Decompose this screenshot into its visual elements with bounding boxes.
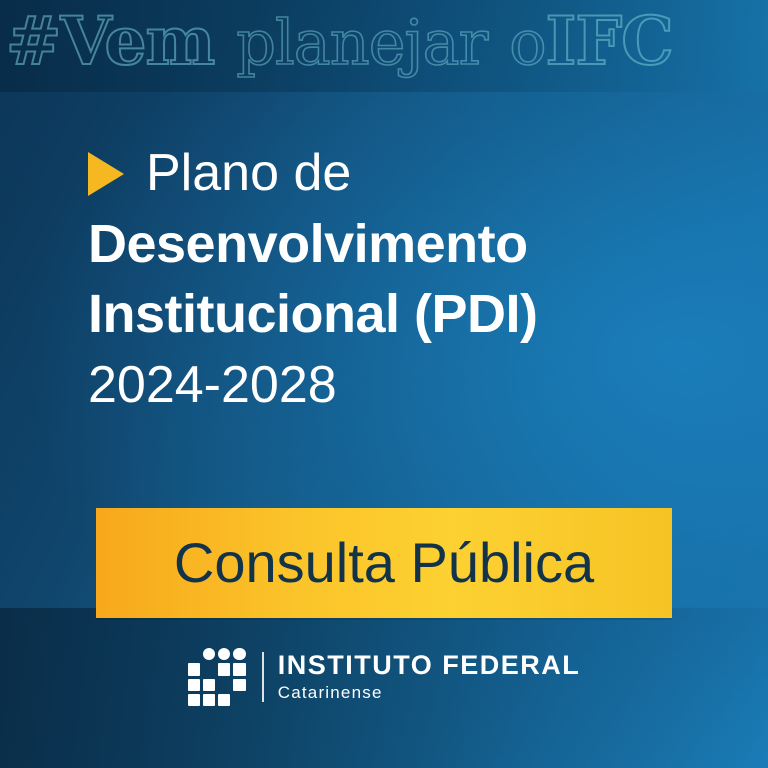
poster-canvas: #Vem planejar oIFC Plano de Desenvolvime… (0, 0, 768, 768)
title-first-row: Plano de (88, 140, 728, 206)
institution-name-block: INSTITUTO FEDERAL Catarinense (262, 652, 581, 702)
footer-logo: INSTITUTO FEDERAL Catarinense (0, 648, 768, 706)
hashtag-word-vem: Vem (60, 2, 214, 80)
hashtag-word-planejar: planejar (236, 6, 487, 79)
title-line-1: Plano de (146, 147, 351, 199)
play-triangle-icon (88, 152, 124, 196)
campaign-hashtag: #Vem planejar oIFC (6, 2, 766, 80)
institution-campus: Catarinense (278, 683, 581, 703)
title-line-3: Institucional (PDI) (88, 284, 728, 346)
title-years: 2024-2028 (88, 359, 728, 411)
title-line-2: Desenvolvimento (88, 214, 728, 276)
title-block: Plano de Desenvolvimento Institucional (… (88, 140, 728, 411)
hashtag-symbol: # (6, 2, 60, 80)
hashtag-word-o: o (509, 6, 545, 79)
consulta-publica-label: Consulta Pública (174, 535, 594, 591)
institution-name: INSTITUTO FEDERAL (278, 651, 581, 681)
consulta-publica-banner[interactable]: Consulta Pública (96, 508, 672, 618)
hashtag-word-ifc: IFC (546, 2, 673, 80)
ifc-grid-logo-icon (188, 648, 246, 706)
